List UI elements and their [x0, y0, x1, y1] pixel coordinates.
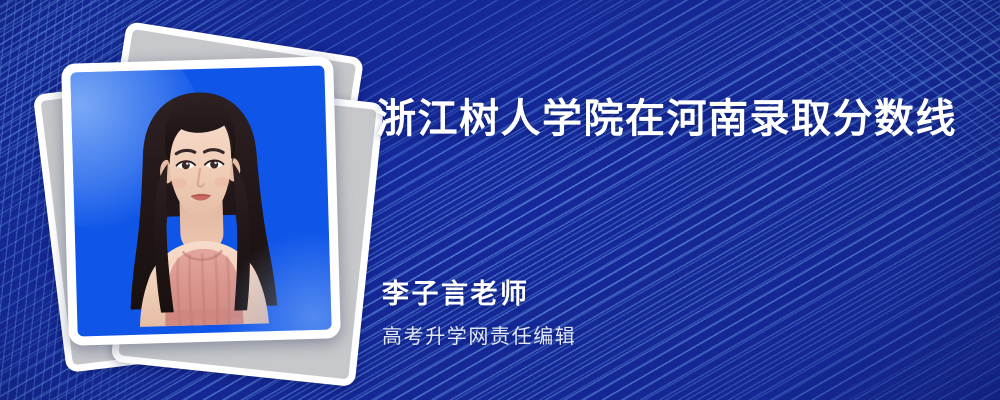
page-title: 浙江树人学院在河南录取分数线 — [376, 96, 957, 142]
photo-cluster — [55, 38, 365, 368]
text-block: 浙江树人学院在河南录取分数线 李子言老师 高考升学网责任编辑 — [376, 0, 976, 400]
author-name: 李子言老师 — [382, 272, 530, 311]
portrait-illustration — [70, 66, 331, 337]
author-role: 高考升学网责任编辑 — [382, 320, 576, 349]
portrait-photo — [70, 66, 331, 337]
portrait-photo-frame — [61, 56, 341, 345]
article-header-banner: 浙江树人学院在河南录取分数线 李子言老师 高考升学网责任编辑 — [0, 0, 1000, 400]
